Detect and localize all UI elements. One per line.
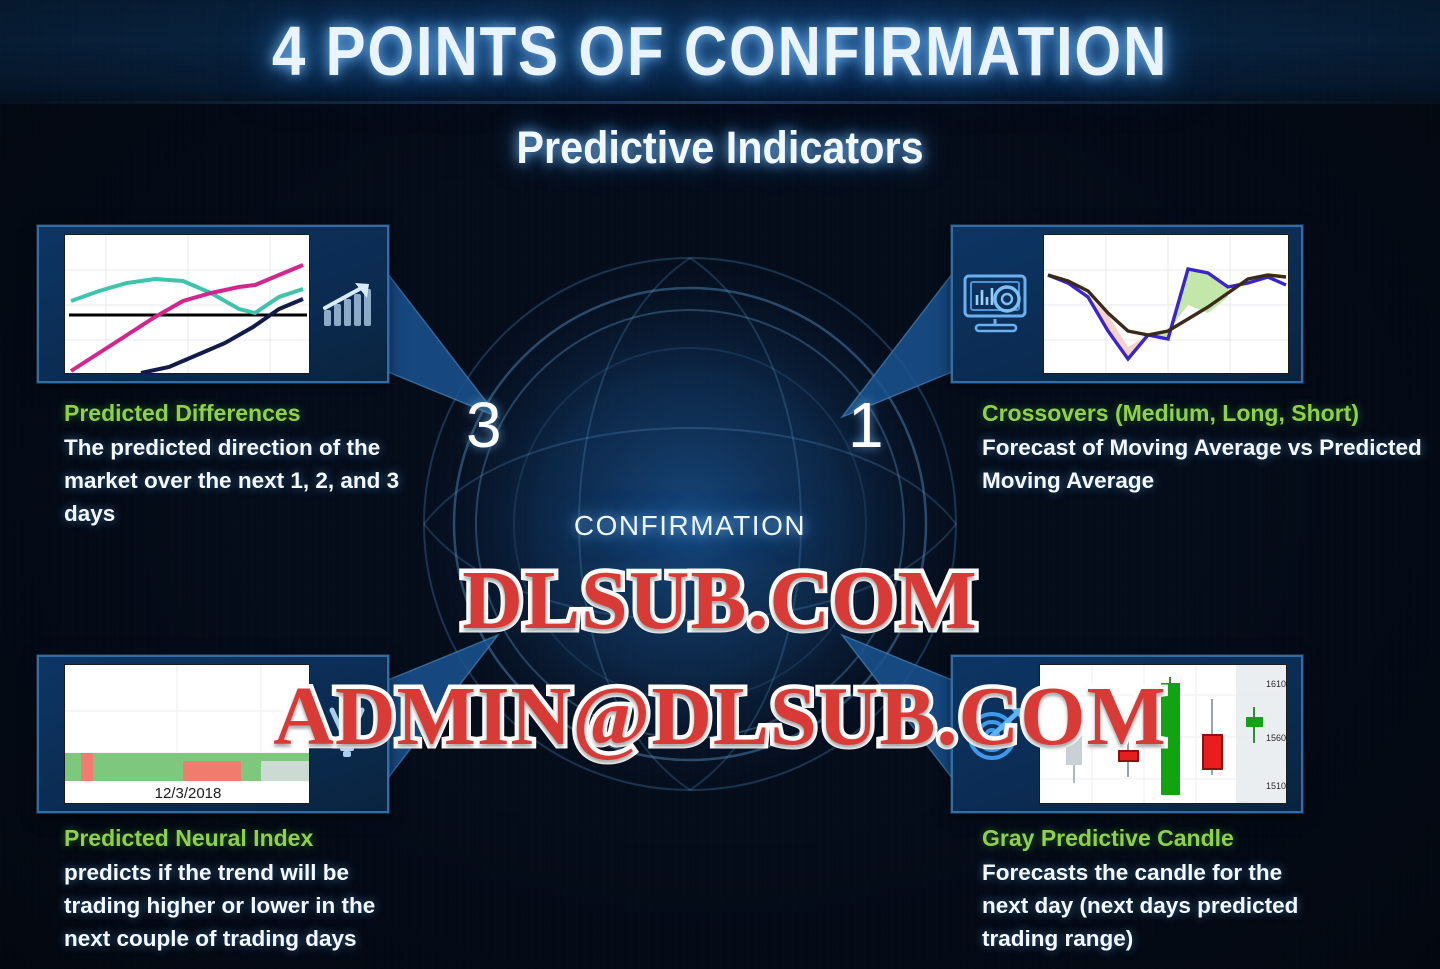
caption-body: predicts if the trend will be trading hi… xyxy=(64,856,424,955)
page-subtitle: Predictive Indicators xyxy=(58,122,1383,174)
step-number-1: 1 xyxy=(848,388,884,462)
caption-crossovers: Crossovers (Medium, Long, Short) Forecas… xyxy=(982,398,1422,497)
connector-wedge-top-right xyxy=(824,272,954,432)
thumbnail-crossovers xyxy=(1043,234,1289,374)
card-crossovers[interactable] xyxy=(951,225,1303,383)
caption-body: Forecast of Moving Average vs Predicted … xyxy=(982,431,1422,497)
caption-predicted-differences: Predicted Differences The predicted dire… xyxy=(64,398,404,530)
thumbnail-neural-index: 12/3/2018 xyxy=(64,664,310,804)
thumbnail-gray-predictive-candle: 1610.00 1560.00 1510.00 xyxy=(1039,664,1287,804)
monitor-analytics-icon xyxy=(961,272,1035,336)
page-title: 4 POINTS OF CONFIRMATION xyxy=(101,13,1339,89)
bar-chart-growth-icon xyxy=(320,277,374,331)
thumbnail-date-label: 12/3/2018 xyxy=(155,785,222,802)
thumbnail-predicted-differences xyxy=(64,234,310,374)
card-predicted-differences[interactable] xyxy=(37,225,389,383)
caption-gray-predictive-candle: Gray Predictive Candle Forecasts the can… xyxy=(982,823,1332,955)
caption-title: Predicted Neural Index xyxy=(64,823,424,853)
hub-label: Confirmation xyxy=(402,500,978,545)
caption-body: The predicted direction of the market ov… xyxy=(64,431,404,530)
price-label-mid: 1560.00 xyxy=(1266,733,1287,743)
caption-body: Forecasts the candle for the next day (n… xyxy=(982,856,1332,955)
price-label-high: 1610.00 xyxy=(1266,679,1287,689)
caption-predicted-neural-index: Predicted Neural Index predicts if the t… xyxy=(64,823,424,955)
connector-wedge-bottom-right xyxy=(824,620,954,780)
lightbulb-icon xyxy=(320,705,374,763)
target-bullseye-icon xyxy=(961,702,1031,766)
card-gray-predictive-candle[interactable]: 1610.00 1560.00 1510.00 xyxy=(951,655,1303,813)
step-number-3: 3 xyxy=(466,388,502,462)
card-predicted-neural-index[interactable]: 12/3/2018 xyxy=(37,655,389,813)
price-label-low: 1510.00 xyxy=(1266,781,1287,791)
caption-title: Crossovers (Medium, Long, Short) xyxy=(982,398,1422,428)
caption-title: Gray Predictive Candle xyxy=(982,823,1332,853)
caption-title: Predicted Differences xyxy=(64,398,404,428)
connector-wedge-bottom-left xyxy=(386,620,516,780)
